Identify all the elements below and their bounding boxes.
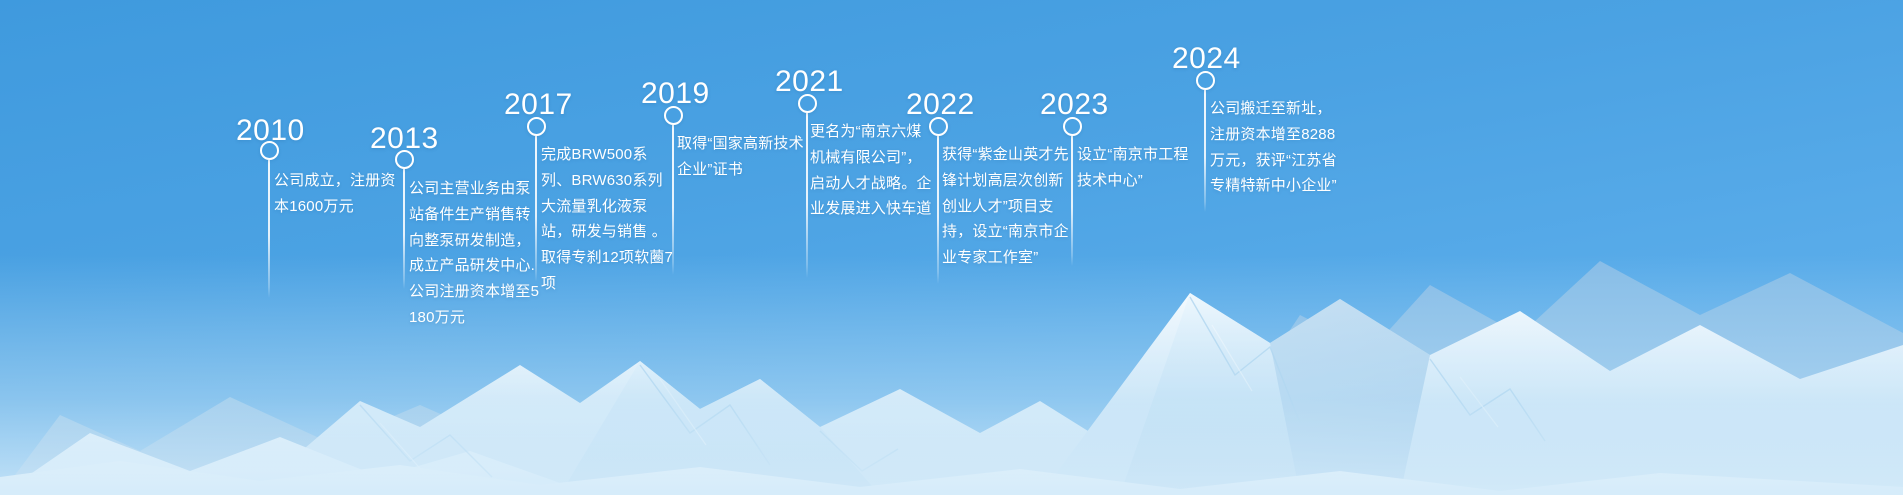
event-connector-line — [937, 136, 939, 284]
event-marker-circle-icon[interactable] — [798, 94, 817, 113]
event-connector-line — [806, 113, 808, 278]
event-connector-line — [1071, 136, 1073, 266]
event-connector-line — [672, 125, 674, 275]
event-description: 完成BRW500系列、BRW630系列大流量乳化液泵站，研发与销售 。取得专刹1… — [541, 142, 677, 297]
event-description: 更名为“南京六煤机械有限公司”，启动人才战略。企业发展进入快车道 — [810, 119, 936, 222]
event-marker-circle-icon[interactable] — [260, 141, 279, 160]
event-marker-circle-icon[interactable] — [1196, 71, 1215, 90]
event-connector-line — [403, 169, 405, 289]
event-marker-circle-icon[interactable] — [664, 106, 683, 125]
timeline-banner: 2010公司成立，注册资本1600万元2013公司主营业务由泵站备件生产销售转向… — [0, 0, 1903, 495]
event-connector-line — [268, 160, 270, 298]
event-description: 公司成立，注册资本1600万元 — [274, 168, 406, 220]
event-marker-circle-icon[interactable] — [1063, 117, 1082, 136]
event-description: 公司搬迁至新址，注册资本增至8288万元，获评“江苏省专精特新中小企业” — [1210, 96, 1343, 199]
event-description: 取得“国家高新技术企业”证书 — [677, 131, 809, 183]
event-marker-circle-icon[interactable] — [929, 117, 948, 136]
event-marker-circle-icon[interactable] — [395, 150, 414, 169]
event-description: 设立“南京市工程技术中心” — [1077, 142, 1203, 194]
event-connector-line — [1204, 90, 1206, 212]
event-description: 公司主营业务由泵站备件生产销售转向整泵研发制造，成立产品研发中心.公司注册资本增… — [409, 176, 541, 331]
event-marker-circle-icon[interactable] — [527, 117, 546, 136]
event-description: 获得“紫金山英才先锋计划高层次创新创业人才”项目支持，设立“南京市企业专家工作室… — [942, 142, 1070, 271]
event-connector-line — [535, 136, 537, 282]
